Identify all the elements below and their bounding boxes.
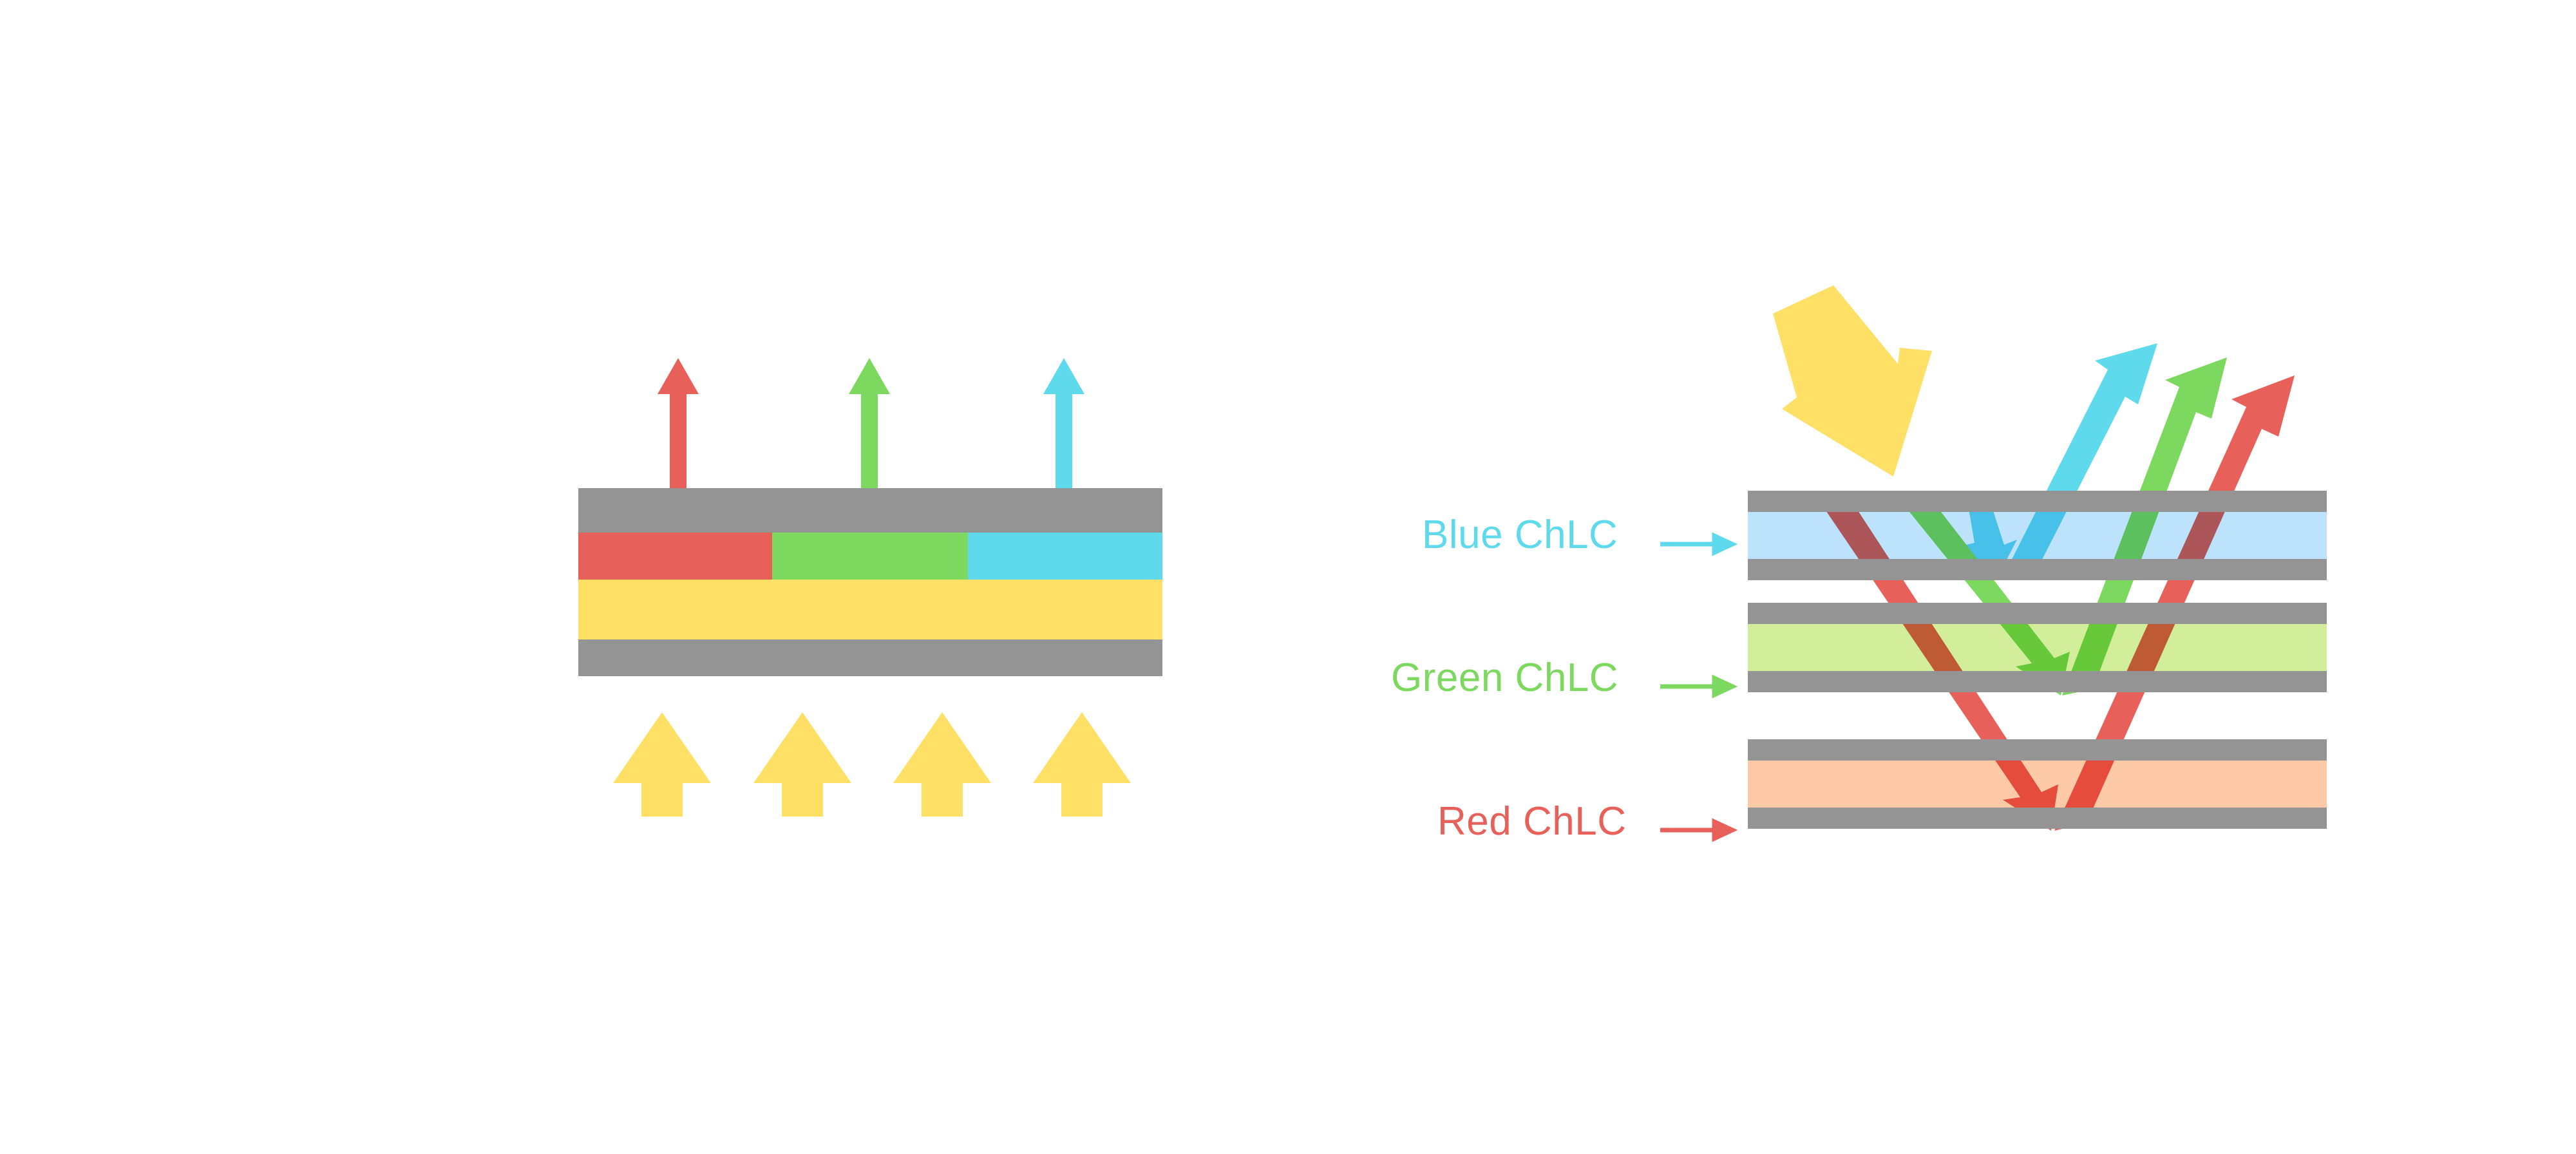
backlight-arrow-1 (613, 712, 711, 817)
emitted-blue-arrow (1043, 358, 1084, 510)
green-cell-bottom-electrode (1748, 671, 2327, 692)
left-bottom-electrode (578, 639, 1162, 676)
left-top-electrode (578, 488, 1162, 533)
left-backlight-layer (578, 580, 1162, 639)
left-panel (578, 358, 1162, 817)
diagram-canvas: Blue ChLC Green ChLC Red ChLC (0, 0, 2576, 1154)
chlc-medium-fills (1748, 512, 2327, 808)
label-arrow-red (1660, 822, 1732, 838)
left-green-filter (772, 533, 968, 580)
backlight-arrow-2 (753, 712, 851, 817)
label-red-chlc: Red ChLC (1437, 802, 1626, 842)
blue-chlc-medium-fill (1748, 512, 2327, 559)
left-blue-filter (968, 533, 1162, 580)
incident-white-light-arrow (1773, 285, 1932, 477)
green-cell-top-electrode (1748, 603, 2327, 624)
right-panel (1660, 285, 2327, 838)
backlight-arrow-3 (893, 712, 991, 817)
emitted-red-arrow (658, 358, 699, 510)
left-red-filter (578, 533, 772, 580)
label-green-chlc: Green ChLC (1391, 658, 1618, 698)
red-cell-top-electrode (1748, 739, 2327, 761)
blue-cell-bottom-electrode (1748, 559, 2327, 580)
label-arrow-blue (1660, 536, 1732, 553)
green-chlc-medium-fill (1748, 624, 2327, 671)
red-chlc-medium-fill (1748, 761, 2327, 808)
label-blue-chlc: Blue ChLC (1422, 515, 1618, 555)
red-cell-bottom-electrode (1748, 808, 2327, 829)
emitted-green-arrow (849, 358, 890, 510)
label-arrow-green (1660, 678, 1732, 695)
backlight-arrow-4 (1033, 712, 1131, 817)
diagram-graphics (0, 0, 2576, 1154)
blue-cell-top-electrode (1748, 491, 2327, 512)
